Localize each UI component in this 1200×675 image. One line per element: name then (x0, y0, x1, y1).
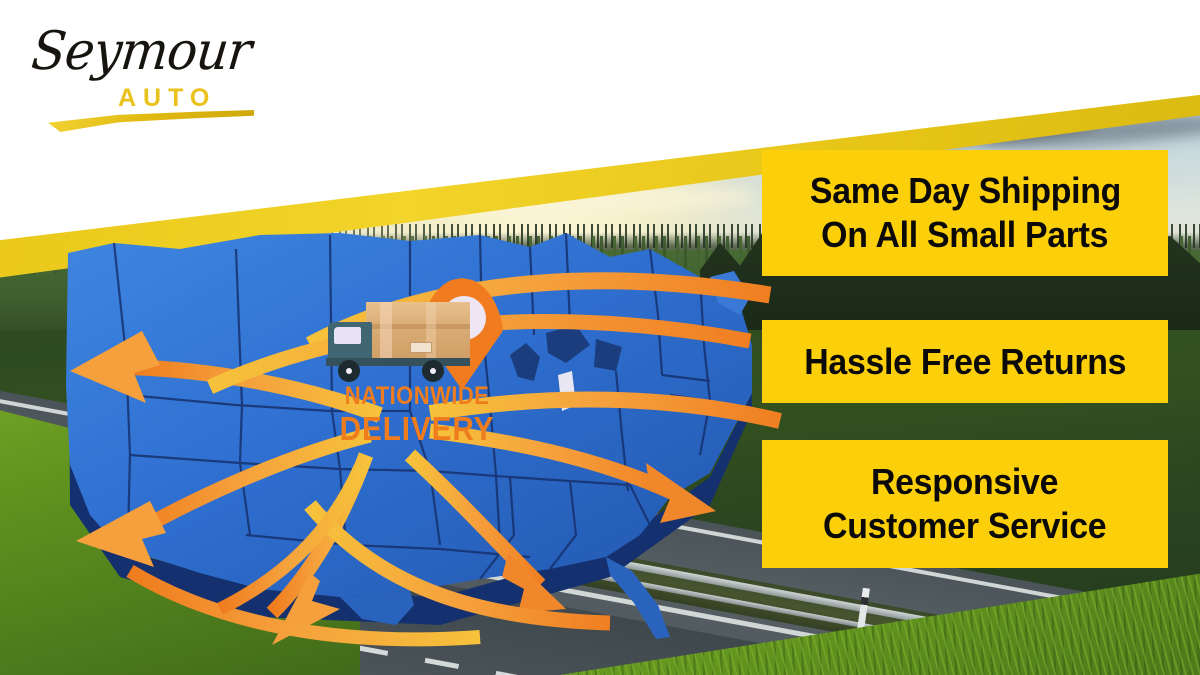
nationwide-delivery-text: NATIONWIDE DELIVERY (322, 384, 512, 447)
box-tape (380, 302, 392, 358)
logo-brand-name: Seymour (29, 20, 254, 81)
seymour-auto-logo[interactable]: Seymour AUTO (20, 14, 260, 124)
box-label (410, 342, 432, 353)
banner-line: Customer Service (823, 504, 1106, 548)
feature-banner-hassle-free-returns[interactable]: Hassle Free Returns (762, 320, 1168, 403)
banner-line: Hassle Free Returns (804, 340, 1126, 384)
nationwide-delivery-badge: NATIONWIDE DELIVERY (322, 278, 512, 453)
truck-wheel (422, 360, 444, 382)
promo-banner-root: NATIONWIDE DELIVERY Seymour AUTO Same Da… (0, 0, 1200, 675)
logo-brand-sub: AUTO (118, 84, 216, 113)
feature-banner-same-day-shipping[interactable]: Same Day Shipping On All Small Parts (762, 150, 1168, 276)
truck-window (334, 327, 361, 344)
banner-line: Responsive (871, 460, 1058, 504)
badge-line-2: DELIVERY (332, 412, 503, 447)
delivery-truck-icon (322, 302, 470, 384)
badge-line-1: NATIONWIDE (333, 384, 500, 409)
truck-wheel (338, 360, 360, 382)
banner-line: On All Small Parts (821, 213, 1108, 257)
banner-line: Same Day Shipping (809, 169, 1120, 213)
feature-banner-responsive-customer-service[interactable]: Responsive Customer Service (762, 440, 1168, 568)
